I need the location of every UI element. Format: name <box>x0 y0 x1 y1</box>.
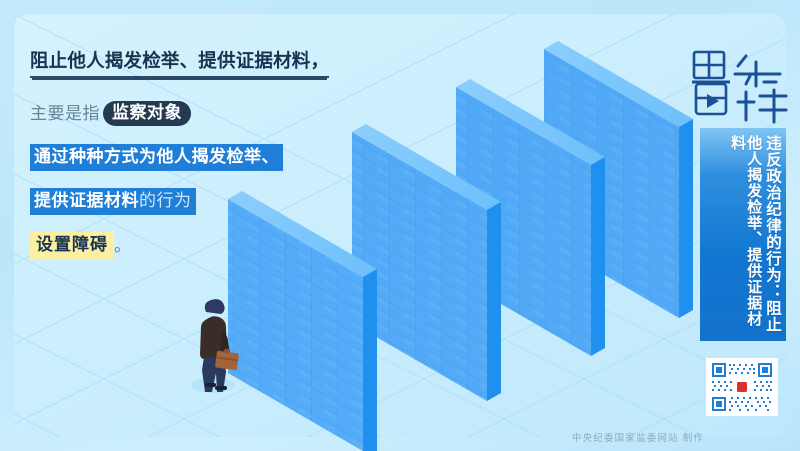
play-triangle-icon <box>707 94 719 108</box>
banner-column-right: 违反政治纪律的行为：阻止 <box>763 135 780 341</box>
obstruct-line: 设置障碍 。 <box>30 228 390 264</box>
subject-pill: 监察对象 <box>103 101 191 126</box>
conduct-highlight: 提供证据材料的行为 <box>30 188 196 215</box>
page-title: 阻止他人揭发检举、提供证据材料， <box>30 52 329 78</box>
poster-canvas: 阻止他人揭发检举、提供证据材料， 主要是指 监察对象 通过种种方式为他人揭发检举… <box>0 0 800 451</box>
qr-center-mark <box>737 382 747 392</box>
headline-line: 阻止他人揭发检举、提供证据材料， <box>30 52 390 78</box>
footer-credit: 中央纪委国家监委网站 制作 <box>0 430 800 444</box>
brand-logo[interactable] <box>688 46 792 126</box>
conduct-soft: 的行为 <box>139 191 192 210</box>
definition-prefix: 主要是指 <box>30 105 100 122</box>
sentence-period: 。 <box>114 237 131 254</box>
vertical-banner: 违反政治纪律的行为：阻止 他人揭发检举、提供证据材料 <box>700 128 786 341</box>
conduct-bold: 提供证据材料 <box>34 191 139 210</box>
conduct-line: 提供证据材料的行为 <box>30 184 390 220</box>
qr-code[interactable] <box>706 358 778 416</box>
banner-column-left: 他人揭发检举、提供证据材料 <box>729 135 761 341</box>
obstruct-highlight: 设置障碍 <box>30 232 114 259</box>
definition-line: 主要是指 监察对象 <box>30 96 390 132</box>
copy-block: 阻止他人揭发检举、提供证据材料， 主要是指 监察对象 通过种种方式为他人揭发检举… <box>30 52 390 272</box>
method-line: 通过种种方式为他人揭发检举、 <box>30 140 390 176</box>
footer-credit-text: 中央纪委国家监委网站 制作 <box>572 433 704 444</box>
method-highlight: 通过种种方式为他人揭发检举、 <box>30 144 283 171</box>
